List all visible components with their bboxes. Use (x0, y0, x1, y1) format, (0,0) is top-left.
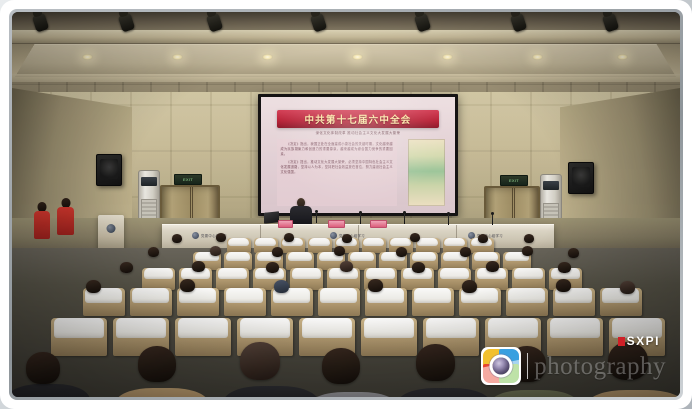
audience-head (568, 248, 579, 258)
microphone (492, 214, 493, 225)
audience-head (120, 262, 133, 273)
auditorium-seat (547, 318, 603, 356)
seat-cover (309, 238, 330, 246)
foreground-person-head (26, 352, 60, 384)
audience-head (284, 233, 294, 242)
audience-head (334, 246, 345, 256)
seat-cover (366, 268, 395, 279)
audience-head (368, 279, 383, 292)
projection-screen: 中共第十七届六中全会 深化文化体制改革 推动社会主义文化大发展大繁荣 《决定》指… (261, 97, 455, 213)
presenter-body (290, 206, 312, 226)
name-placard (278, 220, 293, 228)
seat-cover (612, 318, 661, 338)
downlight-icon (262, 54, 273, 60)
auditorium-seat (227, 238, 251, 253)
auditorium-seat (318, 288, 360, 316)
foreground-person-head (416, 344, 455, 381)
auditorium-seat (130, 288, 172, 316)
audience-head (396, 247, 407, 257)
auditorium-seat (553, 288, 595, 316)
auditorium-seat (361, 318, 417, 356)
audience-head (342, 234, 352, 243)
seat-cover (363, 238, 384, 246)
seat-cover (255, 238, 276, 246)
seat-cover (444, 238, 465, 246)
seat-cover (426, 318, 475, 338)
slide-body-text: 《决定》指出，我国正处在全面建成小康社会的关键时期，文化越来越成为民族凝聚力和创… (277, 139, 397, 206)
standing-staff-person (57, 198, 74, 242)
name-placard (370, 220, 387, 228)
audience-head (192, 261, 205, 272)
standing-staff-person (34, 202, 50, 242)
seat-cover (508, 288, 545, 303)
auditorium-seat (224, 288, 266, 316)
downlight-icon (172, 54, 183, 60)
person-body (57, 207, 74, 235)
person-body (34, 211, 50, 239)
foreground-person-head (240, 342, 280, 380)
auditorium-seat (175, 318, 231, 356)
foreground-person-head (322, 348, 360, 384)
auditorium-seat (51, 318, 107, 356)
seat-cover (440, 268, 469, 279)
seat-row (26, 318, 680, 356)
seat-cover (144, 268, 173, 279)
audience-head (410, 233, 420, 242)
wall-speaker-right (568, 162, 594, 194)
foreground-person-head (608, 342, 648, 380)
downlight-icon (617, 54, 628, 60)
audience-head (460, 247, 471, 257)
seat-cover (218, 268, 247, 279)
audience-head (486, 261, 499, 272)
presenter-person (290, 198, 312, 226)
slide-title-banner: 中共第十七届六中全会 (277, 110, 440, 129)
ac-display-panel (141, 177, 157, 186)
auditorium-seat (216, 268, 249, 290)
foreground-person-head (138, 346, 176, 382)
auditorium-seat (365, 288, 407, 316)
audience-head (462, 280, 477, 293)
auditorium-seat (362, 238, 386, 253)
audience-head (210, 246, 221, 256)
slide-figure-image (408, 139, 445, 206)
seat-cover (226, 252, 251, 261)
audience-head (340, 261, 353, 272)
seat-cover (550, 318, 599, 338)
audience-head (216, 233, 226, 242)
photo-frame: EXIT EXIT 中共第十七届六中全会 深化 (0, 0, 692, 409)
seat-row (68, 288, 656, 316)
audience-head (620, 281, 635, 294)
auditorium-seat (308, 238, 332, 253)
foreground-person-head (508, 346, 546, 382)
audience-head (172, 234, 182, 243)
microphone (448, 214, 449, 225)
audience-head (522, 246, 533, 256)
presentation-slide: 中共第十七届六中全会 深化文化体制改革 推动社会主义文化大发展大繁荣 《决定》指… (261, 97, 455, 213)
laptop (264, 211, 279, 224)
auditorium-seat (177, 288, 219, 316)
exit-sign-label: EXIT (509, 179, 519, 183)
slide-paragraph: 《决定》提出，推动文化大发展大繁荣，必须坚持中国特色社会主义文化发展道路，坚持以… (281, 160, 393, 175)
seat-cover (132, 288, 169, 303)
auditorium-seat (506, 288, 548, 316)
downlight-icon (532, 54, 543, 60)
audience-head (148, 247, 159, 257)
seat-cover (54, 318, 103, 338)
downlight-icon (82, 54, 93, 60)
seat-cover (320, 288, 357, 303)
seat-cover (414, 288, 451, 303)
audience-head (272, 247, 283, 257)
auditorium-seat (290, 268, 323, 290)
seat-cover (226, 288, 263, 303)
auditorium-seat (512, 268, 545, 290)
seat-cover (288, 252, 313, 261)
seat-cover (514, 268, 543, 279)
audience-head (274, 280, 289, 293)
seat-cover (390, 238, 411, 246)
slide-title: 中共第十七届六中全会 (304, 112, 411, 126)
wall-speaker-left (96, 154, 122, 186)
seat-cover (228, 238, 249, 246)
exit-sign-label: EXIT (183, 178, 193, 182)
seat-cover (364, 318, 413, 338)
conference-hall-scene: EXIT EXIT 中共第十七届六中全会 深化 (12, 12, 680, 397)
seat-cover (350, 252, 375, 261)
exit-sign-left: EXIT (174, 174, 202, 185)
seat-cover (417, 238, 438, 246)
audience-head (478, 234, 488, 243)
seat-cover (240, 318, 289, 338)
audience-head (524, 234, 534, 243)
microphone (404, 213, 405, 224)
auditorium-seat (142, 268, 175, 290)
ac-display-panel (543, 181, 559, 190)
seat-cover (292, 268, 321, 279)
podium (98, 215, 124, 251)
audience-head (558, 262, 571, 273)
seat-cover (116, 318, 165, 338)
auditorium-seat (600, 288, 642, 316)
seat-cover (302, 318, 351, 338)
audience-head (266, 262, 279, 273)
photograph: EXIT EXIT 中共第十七届六中全会 深化 (12, 12, 680, 397)
seat-cover (488, 318, 537, 338)
exit-sign-right: EXIT (500, 175, 528, 186)
microphone (360, 213, 361, 224)
seat-cover (178, 318, 227, 338)
podium-emblem-icon (107, 224, 116, 233)
slide-subtitle: 深化文化体制改革 推动社会主义文化大发展大繁荣 (277, 130, 440, 135)
slide-paragraph: 《决定》指出，我国正处在全面建成小康社会的关键时期，文化越来越成为民族凝聚力和创… (281, 142, 393, 157)
ceiling-panel (15, 44, 676, 77)
downlight-icon (442, 54, 453, 60)
audience-head (412, 262, 425, 273)
downlight-icon (352, 54, 363, 60)
audience-head (86, 280, 101, 293)
ceiling (12, 12, 680, 94)
projection-screen-frame: 中共第十七届六中全会 深化文化体制改革 推动社会主义文化大发展大繁荣 《决定》指… (258, 94, 458, 216)
seat-cover (412, 252, 437, 261)
ceiling-beam-front (12, 30, 680, 44)
name-placard (328, 220, 345, 228)
seat-cover (474, 252, 499, 261)
audience-head (180, 279, 195, 292)
audience-head (556, 279, 571, 292)
microphone (316, 212, 317, 223)
auditorium-seat (412, 288, 454, 316)
